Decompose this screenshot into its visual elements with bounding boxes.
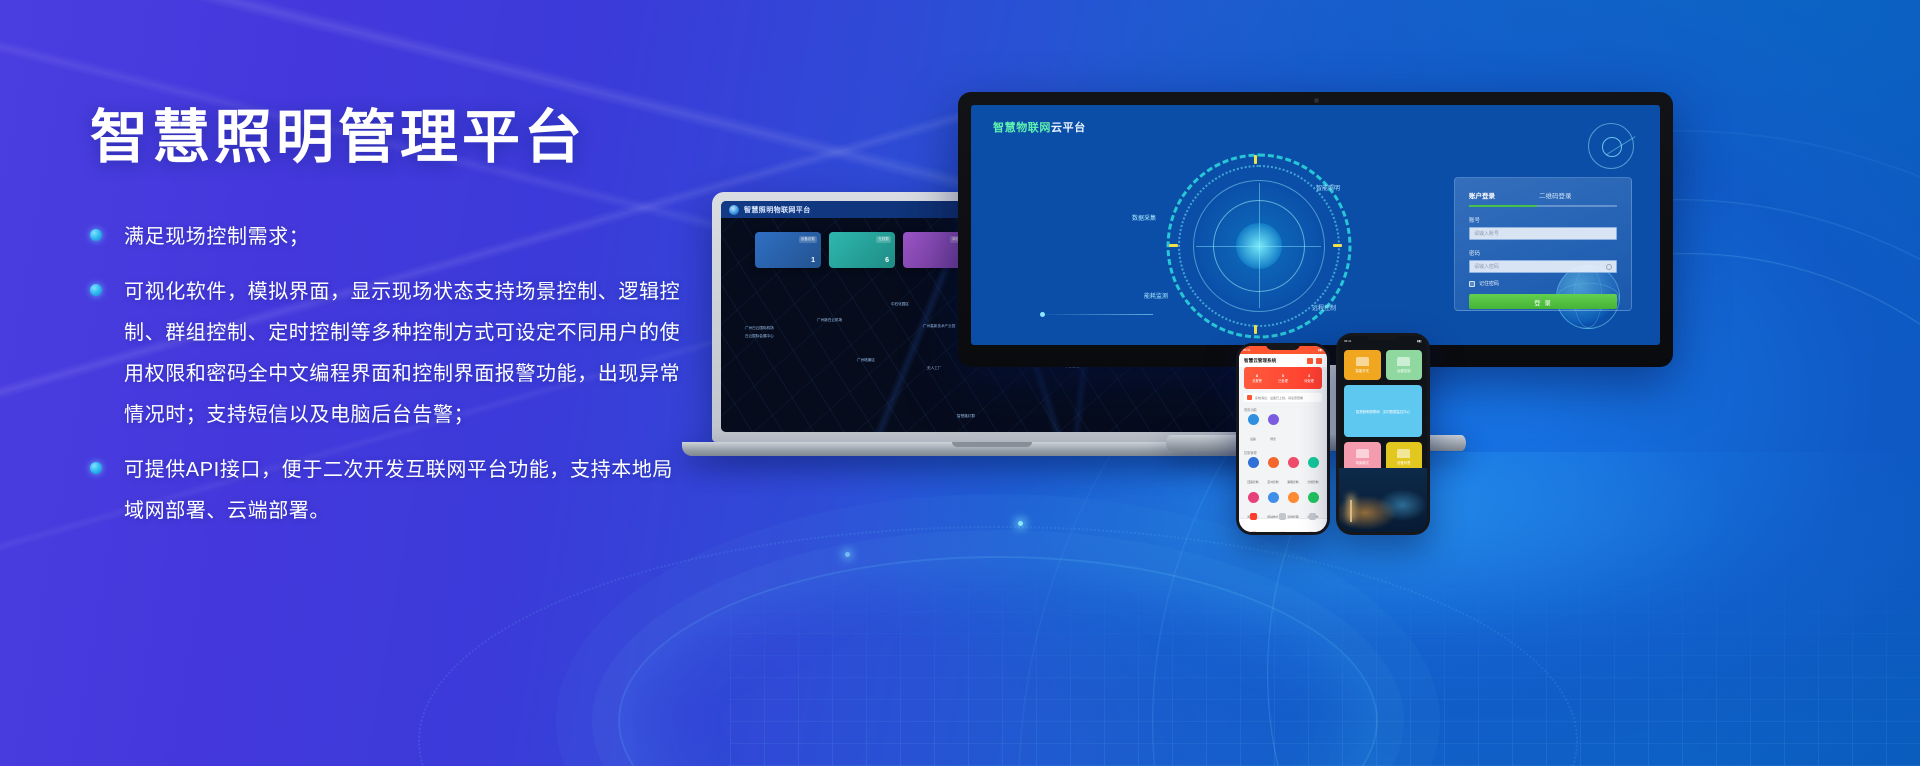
grid-item[interactable]: 场景 (1264, 414, 1282, 445)
alarm-icon (1248, 492, 1259, 503)
tile-label: 智慧照明物联网 实时数据监控中心 (1356, 409, 1410, 414)
feature-text: 满足现场控制需求； (124, 217, 309, 258)
account-field[interactable]: 请输入账号 (1469, 227, 1617, 240)
device-icon (1248, 414, 1259, 425)
feature-list: 满足现场控制需求； 可视化软件，模拟界面，显示现场状态支持场景控制、逻辑控制、群… (90, 217, 690, 532)
fullscreen-icon[interactable] (1316, 358, 1322, 364)
stat-card-tag: 在线数 (876, 236, 891, 243)
stat-card-value: 1 (811, 257, 815, 264)
tab-qrcode-login[interactable]: 二维码登录 (1539, 190, 1572, 200)
imac-app-title-green: 智慧物联网 (993, 122, 1051, 134)
stat-card[interactable]: 设备总数 1 (755, 232, 821, 268)
bullet-dot-icon (90, 229, 102, 241)
imac-app-title: 智慧物联网云平台 (993, 119, 1086, 135)
phone-app-header: 智慧云管理系统 (1239, 354, 1327, 367)
device-mockups: 智慧照明物联网平台 区域 设备 (690, 0, 1920, 766)
radar-tick (1169, 244, 1178, 247)
grid-item[interactable]: 策略控制 (1284, 457, 1302, 488)
login-panel: 账户登录 二维码登录 账号 请输入账号 密码 请输入密码 (1454, 177, 1632, 311)
list-item: 可视化软件，模拟界面，显示现场状态支持场景控制、逻辑控制、群组控制、定时控制等多… (90, 272, 690, 436)
laptop-app-title: 智慧照明物联网平台 (744, 205, 811, 215)
section-title: 常用功能 (1244, 407, 1322, 412)
login-tabs: 账户登录 二维码登录 (1469, 190, 1617, 200)
status-time: 09:41 (1243, 348, 1251, 352)
grid-item-label: 设备 (1250, 437, 1256, 441)
switch-icon (1356, 357, 1369, 366)
grid-item[interactable]: 回路控制 (1244, 457, 1262, 488)
radar-axis-vertical (1259, 183, 1260, 309)
radar-label: 能耗监测 (1144, 291, 1168, 300)
grid-item[interactable]: 分组控制 (1304, 457, 1322, 488)
strategy-icon (1288, 457, 1299, 468)
inspect-icon (1308, 492, 1319, 503)
alarm-total-label: 总报警 (1252, 378, 1262, 383)
radar-visualization: 智能照明 数据采集 远程控制 能耗监测 (1166, 153, 1351, 338)
timer-icon (1268, 457, 1279, 468)
imac-app-title-white: 云平台 (1051, 122, 1086, 134)
tab-account-login[interactable]: 账户登录 (1469, 190, 1495, 200)
phone-app-title: 智慧云管理系统 (1244, 358, 1276, 364)
stat-card[interactable]: 在线数 6 (829, 232, 895, 268)
password-placeholder: 请输入密码 (1474, 263, 1499, 270)
loop-icon (1248, 457, 1259, 468)
tile-remote[interactable]: 远程控制 (1386, 350, 1423, 380)
password-row: 密码 请输入密码 (1469, 249, 1617, 273)
map-node-label: 广州新白云机场 (817, 318, 842, 323)
list-icon (1397, 449, 1410, 458)
header-icon-group (1307, 358, 1322, 364)
account-row: 账号 请输入账号 (1469, 216, 1617, 240)
tile-label: 远程控制 (1397, 368, 1411, 373)
tab-label: 首页 (1251, 532, 1256, 533)
phone-mockup-left: 09:41 ▮▮▯ 智慧云管理系统 8 总报警 5 (1236, 343, 1330, 535)
tab-profile[interactable]: 我的 (1309, 513, 1316, 533)
list-item: 可提供API接口，便于二次开发互联网平台功能，支持本地局域网部署、云端部署。 (90, 450, 690, 532)
camera-icon (1314, 98, 1319, 103)
tab-home[interactable]: 首页 (1250, 513, 1257, 533)
status-icons: ▮▮▯ (1417, 339, 1422, 343)
map-node-label: 广州白云国际机场 (745, 326, 774, 331)
notice-text: 系统消息：设备已上线，请注意查看 (1255, 396, 1303, 400)
remember-password-row[interactable]: 记住密码 (1469, 280, 1617, 287)
stat-card-tag: 设备总数 (799, 236, 817, 243)
tile-grid: 智能开关 远程控制 智慧照明物联网 实时数据监控中心 场景模式 (1339, 345, 1427, 477)
grid-item-label: 分组控制 (1307, 480, 1318, 484)
login-submit-button[interactable]: 登 录 (1469, 294, 1617, 309)
message-icon (1279, 513, 1286, 520)
ops-icon (1288, 492, 1299, 503)
map-node-label: 白云国际会展中心 (745, 334, 774, 339)
grid-item-label: 策略控制 (1287, 480, 1298, 484)
banner-copy: 智慧照明管理平台 满足现场控制需求； 可视化软件，模拟界面，显示现场状态支持场景… (90, 106, 690, 546)
grid-item[interactable]: 设备 (1244, 414, 1262, 445)
grid-item-label: 回路控制 (1247, 480, 1258, 484)
radar-tick (1254, 155, 1257, 164)
phone-notch (1266, 343, 1300, 350)
feature-text: 可视化软件，模拟界面，显示现场状态支持场景控制、逻辑控制、群组控制、定时控制等多… (124, 272, 690, 436)
energy-icon (1268, 492, 1279, 503)
promo-banner: 智慧照明管理平台 满足现场控制需求； 可视化软件，模拟界面，显示现场状态支持场景… (0, 0, 1920, 766)
alarm-pending-label: 待处理 (1304, 378, 1314, 383)
map-node-label: 中石化园区 (891, 302, 909, 307)
radar-label: 数据采集 (1132, 213, 1156, 222)
quick-actions-grid: 设备 场景 (1239, 414, 1327, 445)
remember-label: 记住密码 (1479, 280, 1499, 287)
status-icons: ▮▮▯ (1318, 348, 1323, 352)
eye-icon[interactable] (1606, 264, 1612, 270)
phone-right-screen: 09:41 ▮▮▯ 智能开关 远程控制 智慧照明物联网 实时数据监控中心 (1339, 336, 1427, 532)
scan-icon[interactable] (1307, 358, 1313, 364)
alarm-stat: 5 已处理 (1278, 373, 1288, 383)
password-label: 密码 (1469, 249, 1617, 257)
section-title: 控制管理 (1244, 450, 1322, 455)
phone-mockup-right: 09:41 ▮▮▯ 智能开关 远程控制 智慧照明物联网 实时数据监控中心 (1336, 333, 1430, 535)
connector-line (1043, 314, 1153, 315)
tile-label: 设备列表 (1397, 460, 1411, 465)
login-tab-underline (1469, 205, 1617, 207)
radar-label: 远程控制 (1312, 303, 1336, 312)
profile-icon (1309, 513, 1316, 520)
password-field[interactable]: 请输入密码 (1469, 260, 1617, 273)
grid-item-label: 场景 (1270, 437, 1276, 441)
tile-switch[interactable]: 智能开关 (1344, 350, 1381, 380)
radar-label: 智能照明 (1316, 183, 1340, 192)
grid-item[interactable]: 定时控制 (1264, 457, 1282, 488)
map-node-label: 广州塔景区 (857, 358, 875, 363)
notice-banner[interactable]: 系统消息：设备已上线，请注意查看 (1244, 393, 1322, 402)
tile-dashboard[interactable]: 智慧照明物联网 实时数据监控中心 (1344, 385, 1422, 437)
grid-item-label: 定时控制 (1267, 480, 1278, 484)
phone-left-screen: 09:41 ▮▮▯ 智慧云管理系统 8 总报警 5 (1239, 346, 1327, 532)
map-node-label: 广州高新技术产业园 (923, 324, 955, 329)
bullet-dot-icon (90, 462, 102, 474)
imac-bezel: 智慧物联网云平台 智能照明 (958, 92, 1673, 367)
phone-notch (1366, 333, 1400, 340)
alarm-handled-label: 已处理 (1278, 378, 1288, 383)
hud-scope-icon (1588, 123, 1634, 169)
checkbox-icon[interactable] (1469, 281, 1475, 287)
status-time: 09:41 (1344, 339, 1352, 343)
night-city-photo (1339, 468, 1427, 532)
bullet-dot-icon (90, 284, 102, 296)
account-label: 账号 (1469, 216, 1617, 224)
stat-card-value: 6 (885, 257, 889, 264)
page-title: 智慧照明管理平台 (90, 106, 690, 171)
tab-label: 我的 (1310, 532, 1315, 533)
alarm-stat: 8 总报警 (1252, 373, 1262, 383)
imac-screen: 智慧物联网云平台 智能照明 (971, 105, 1660, 345)
home-icon (1250, 513, 1257, 520)
tile-label: 场景模式 (1355, 460, 1369, 465)
list-item: 满足现场控制需求； (90, 217, 690, 258)
platform-logo-icon (729, 205, 739, 215)
alarm-stat: 3 待处理 (1304, 373, 1314, 383)
scene-icon (1356, 449, 1369, 458)
remote-icon (1397, 357, 1410, 366)
group-icon (1308, 457, 1319, 468)
map-node-label: 无人工厂 (927, 366, 941, 371)
feature-text: 可提供API接口，便于二次开发互联网平台功能，支持本地局域网部署、云端部署。 (124, 450, 690, 532)
tab-message[interactable]: 消息 (1279, 513, 1286, 533)
phone-tab-bar: 首页 消息 我的 (1239, 518, 1327, 532)
tile-label: 智能开关 (1355, 368, 1369, 373)
scene-icon (1268, 414, 1279, 425)
alarm-summary-card[interactable]: 8 总报警 5 已处理 3 待处理 (1244, 367, 1322, 389)
radar-tick (1254, 325, 1257, 334)
tab-label: 消息 (1280, 532, 1285, 533)
megaphone-icon (1247, 395, 1252, 400)
radar-tick (1333, 244, 1342, 247)
